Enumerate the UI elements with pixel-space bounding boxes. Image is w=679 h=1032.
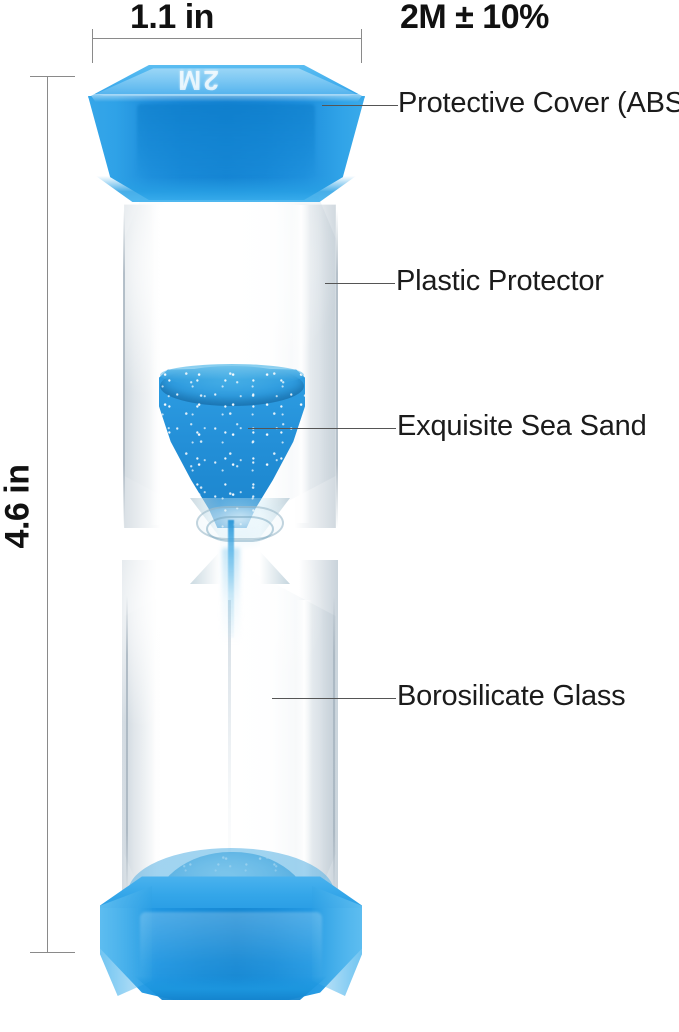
callout-label-borosilicate-glass: Borosilicate Glass xyxy=(397,680,626,713)
glass-edge-lower-right xyxy=(333,596,335,892)
leader-line-plastic-protector xyxy=(325,283,395,284)
callout-label-exquisite-sea-sand: Exquisite Sea Sand xyxy=(397,410,647,443)
product-diagram-canvas: 1.1 in 2M ± 10% 4.6 in xyxy=(0,0,679,1032)
protective-cover-bottom-edge xyxy=(96,176,356,202)
protective-cover-front-panel xyxy=(137,104,315,176)
sea-sand-top-rim xyxy=(160,364,304,386)
glass-highlight-streak xyxy=(150,205,176,525)
glass-edge-upper-right xyxy=(336,210,338,528)
leader-line-protective-cover xyxy=(322,105,398,106)
glass-highlight-streak xyxy=(152,600,176,890)
glass-highlight-streak xyxy=(296,600,312,886)
glass-highlight-streak xyxy=(292,205,310,523)
cap-emboss-text: 2M xyxy=(176,64,219,96)
leader-line-exquisite-sea-sand xyxy=(248,428,396,429)
falling-sand-stream xyxy=(228,520,234,638)
base-bottom-edge xyxy=(116,976,346,1000)
callout-label-protective-cover: Protective Cover (ABS) xyxy=(398,87,679,120)
base-front-sheen xyxy=(140,912,322,984)
glass-edge-upper-left xyxy=(123,210,125,528)
hourglass-illustration: 2M xyxy=(0,0,679,1032)
callout-label-plastic-protector: Plastic Protector xyxy=(396,265,604,298)
protective-cover-rim-highlight xyxy=(90,94,363,102)
leader-line-borosilicate-glass xyxy=(272,698,396,699)
glass-edge-lower-left xyxy=(126,596,128,892)
glass-neck-ring-inner xyxy=(206,516,274,542)
